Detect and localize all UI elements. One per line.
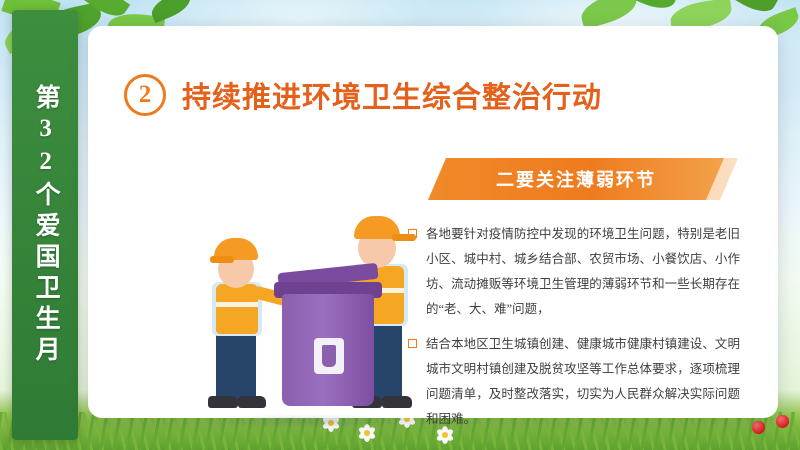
content-card: 2 持续推进环境卫生综合整治行动 二要关注薄弱环节 各地要针对疫情防控中发现的环… (88, 26, 778, 418)
subheading-text: 二要关注薄弱环节 (428, 158, 724, 200)
left-worker-pants (216, 328, 256, 402)
berry-icon (752, 421, 765, 434)
bin-body (282, 294, 374, 406)
section-title-row: 2 持续推进环境卫生综合整治行动 (124, 74, 602, 116)
section-number-badge: 2 (124, 74, 166, 116)
left-worker-shoe (208, 396, 238, 408)
slide-root: 第32个爱国卫生月 2 持续推进环境卫生综合整治行动 二要关注薄弱环节 各地要针… (0, 0, 800, 450)
recycle-bin-icon (314, 338, 344, 374)
subheading-ribbon: 二要关注薄弱环节 (428, 158, 724, 200)
side-banner-text: 第32个爱国卫生月 (32, 84, 58, 367)
side-banner: 第32个爱国卫生月 (12, 10, 78, 440)
page-title: 持续推进环境卫生综合整治行动 (182, 74, 602, 116)
left-worker-shoe (238, 396, 266, 408)
left-worker-vest-stripe (216, 302, 258, 307)
list-item: 结合本地区卫生城镇创建、健康城市健康村镇建设、文明城市文明村镇创建及脱贫攻坚等工… (408, 332, 740, 432)
berry-icon (776, 415, 789, 428)
ground-shadow (196, 414, 421, 428)
right-worker-cap-brim (392, 234, 416, 241)
right-worker-shoe (382, 396, 412, 408)
list-item-text: 结合本地区卫生城镇创建、健康城市健康村镇建设、文明城市文明村镇创建及脱贫攻坚等工… (426, 332, 740, 432)
illustration-workers-and-bin (186, 198, 426, 430)
list-item: 各地要针对疫情防控中发现的环境卫生问题，特别是老旧小区、城中村、城乡结合部、农贸… (408, 222, 740, 322)
bullet-list: 各地要针对疫情防控中发现的环境卫生问题，特别是老旧小区、城中村、城乡结合部、农贸… (408, 222, 740, 442)
left-worker-cap-brim (210, 256, 234, 263)
list-item-text: 各地要针对疫情防控中发现的环境卫生问题，特别是老旧小区、城中村、城乡结合部、农贸… (426, 222, 740, 322)
